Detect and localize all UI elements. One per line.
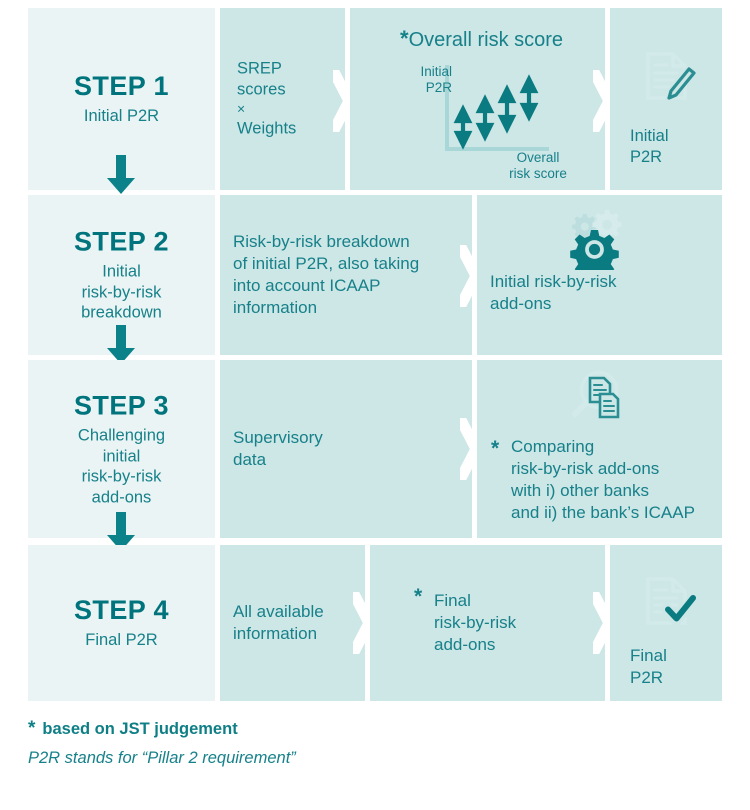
step-4-title: STEP 4: [34, 595, 209, 625]
step-4-middle-text: Final risk-by-risk add-ons: [434, 590, 604, 656]
step-4-input-text: All available information: [233, 601, 363, 645]
text-line: Initial: [34, 262, 209, 282]
text-line: Overall: [488, 150, 588, 166]
step-2-output-cell: Initial risk-by-risk add-ons: [477, 195, 722, 355]
text-line: Supervisory: [233, 427, 463, 449]
asterisk-marker: *: [414, 586, 422, 607]
chart-title: Overall risk score: [409, 29, 563, 51]
text-line: information: [233, 623, 363, 645]
step-1-to-2-arrow-icon: [104, 155, 138, 195]
text-line: breakdown: [34, 303, 209, 323]
step-2-output-text: Initial risk-by-risk add-ons: [490, 271, 715, 315]
gears-icon: [565, 208, 633, 270]
step-1-title: STEP 1: [34, 71, 209, 101]
footnotes: *based on JST judgement P2R stands for “…: [28, 718, 296, 768]
step-2-title: STEP 2: [34, 227, 209, 257]
text-line: SREP: [237, 58, 347, 79]
chart-title-wrap: *Overall risk score: [400, 27, 563, 51]
text-line: P2R: [630, 147, 669, 168]
document-pencil-icon: [640, 48, 696, 104]
step-3-output-cell: * Comparing risk-by-risk add-ons with i)…: [477, 360, 722, 538]
text-line: information: [233, 297, 473, 319]
text-line: Final: [434, 590, 604, 612]
step-4-label-cell: STEP 4 Final P2R: [28, 545, 215, 701]
text-line: risk-by-risk: [434, 612, 604, 634]
text-line: and ii) the bank’s ICAAP: [511, 502, 726, 524]
step-2-to-3-arrow-icon: [104, 325, 138, 365]
step-3-output-text: Comparing risk-by-risk add-ons with i) o…: [511, 436, 726, 524]
text-line: add-ons: [490, 293, 715, 315]
step-2-subtitle: Initial risk-by-risk breakdown: [34, 262, 209, 323]
text-line: add-ons: [434, 634, 604, 656]
step-2-input-text: Risk-by-risk breakdown of initial P2R, a…: [233, 231, 473, 319]
text-line: Initial risk-by-risk: [490, 271, 715, 293]
asterisk-marker: *: [28, 718, 35, 739]
footnote-2-text: P2R stands for “Pillar 2 requirement”: [28, 749, 296, 768]
step-3-input-text: Supervisory data: [233, 427, 463, 471]
step-1-chart-cell: *Overall risk score: [350, 8, 605, 190]
text-line: risk-by-risk: [34, 467, 209, 487]
step-3-title: STEP 3: [34, 390, 209, 420]
text-line: ×: [237, 101, 347, 119]
step-3-subtitle: Challenging initial risk-by-risk add-ons: [34, 426, 209, 508]
text-line: into account ICAAP: [233, 275, 473, 297]
text-line: risk-by-risk add-ons: [511, 458, 726, 480]
step-1-subtitle: Initial P2R: [34, 106, 209, 126]
step-1-input-cell: SREP scores × Weights: [220, 8, 345, 190]
footnote-1-text: based on JST judgement: [42, 720, 237, 738]
step-4-subtitle: Final P2R: [34, 630, 209, 650]
text-line: Comparing: [511, 436, 726, 458]
text-line: data: [233, 449, 463, 471]
text-line: Challenging: [34, 426, 209, 446]
text-line: risk score: [488, 166, 588, 182]
step-1-input-text: SREP scores × Weights: [237, 58, 347, 139]
text-line: add-ons: [34, 487, 209, 507]
step-3-input-cell: Supervisory data: [220, 360, 472, 538]
text-line: scores: [237, 79, 347, 100]
text-line: Final: [630, 645, 667, 667]
magnifier-documents-icon: [569, 370, 631, 430]
text-line: risk-by-risk: [34, 282, 209, 302]
step-1-output-text: Initial P2R: [630, 126, 669, 168]
document-check-icon: [640, 575, 698, 631]
text-line: Risk-by-risk breakdown: [233, 231, 473, 253]
text-line: with i) other banks: [511, 480, 726, 502]
text-line: Initial: [400, 64, 452, 80]
step-4-middle-cell: * Final risk-by-risk add-ons: [370, 545, 605, 701]
text-line: P2R: [400, 80, 452, 96]
step-2-input-cell: Risk-by-risk breakdown of initial P2R, a…: [220, 195, 472, 355]
text-line: initial: [34, 446, 209, 466]
p2r-process-diagram: STEP 1 Initial P2R SREP scores × Weights…: [0, 0, 750, 810]
text-line: P2R: [630, 667, 667, 689]
footnote-asterisk-line: *based on JST judgement: [28, 718, 296, 740]
text-line: Weights: [237, 119, 347, 140]
text-line: of initial P2R, also taking: [233, 253, 473, 275]
step-1-output-cell: Initial P2R: [610, 8, 722, 190]
step-4-output-text: Final P2R: [630, 645, 667, 689]
step-4-output-cell: Final P2R: [610, 545, 722, 701]
text-line: Initial: [630, 126, 669, 147]
chart-x-axis-label: Overall risk score: [488, 150, 588, 182]
asterisk-marker: *: [400, 26, 409, 51]
chart-y-axis-label: Initial P2R: [400, 64, 452, 96]
asterisk-marker: *: [491, 438, 499, 459]
text-line: All available: [233, 601, 363, 623]
step-4-input-cell: All available information: [220, 545, 365, 701]
